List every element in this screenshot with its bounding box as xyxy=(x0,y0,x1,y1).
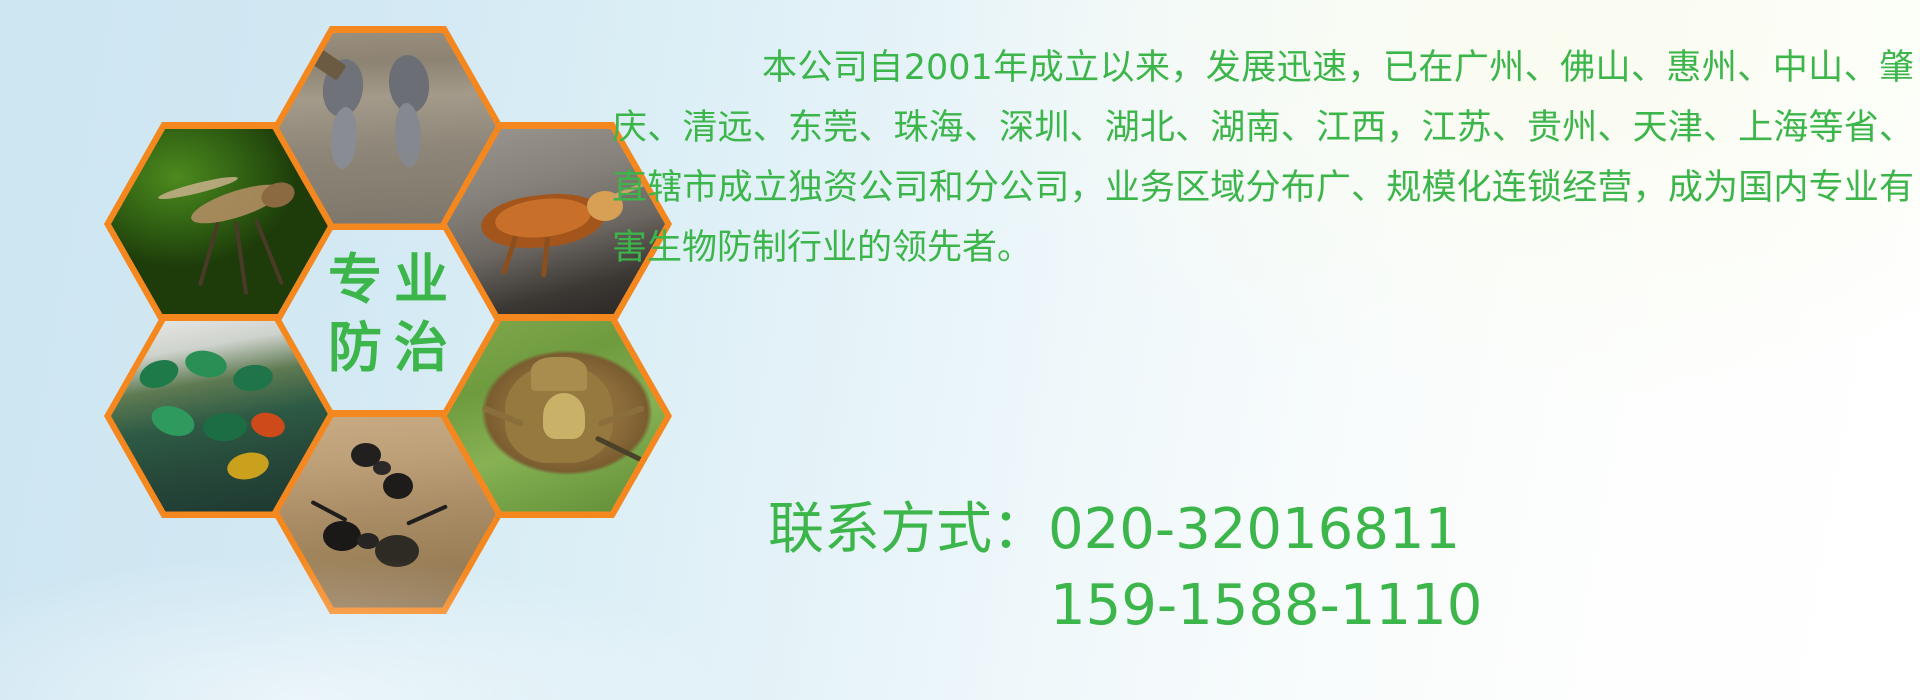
promo-banner: 专业 防治 本公司自2001年成立以来，发展迅速，已在广州、佛山、惠州、中山、肇… xyxy=(0,0,1920,700)
contact-phone-landline[interactable]: 联系方式：020-32016811 xyxy=(768,492,1482,568)
hex-center-slogan: 专业 防治 xyxy=(272,218,504,410)
hexagon-photo-cluster: 专业 防治 xyxy=(96,14,596,686)
contact-phone-mobile[interactable]: 159-1588-1110 xyxy=(768,568,1482,644)
slogan-line-2: 防治 xyxy=(316,321,460,375)
contact-block: 联系方式：020-32016811 159-1588-1110 xyxy=(768,492,1482,644)
company-description-block: 本公司自2001年成立以来，发展迅速，已在广州、佛山、惠州、中山、肇庆、清远、东… xyxy=(612,38,1914,278)
company-description-paragraph: 本公司自2001年成立以来，发展迅速，已在广州、佛山、惠州、中山、肇庆、清远、东… xyxy=(612,38,1914,278)
slogan-line-1: 专业 xyxy=(316,253,460,307)
